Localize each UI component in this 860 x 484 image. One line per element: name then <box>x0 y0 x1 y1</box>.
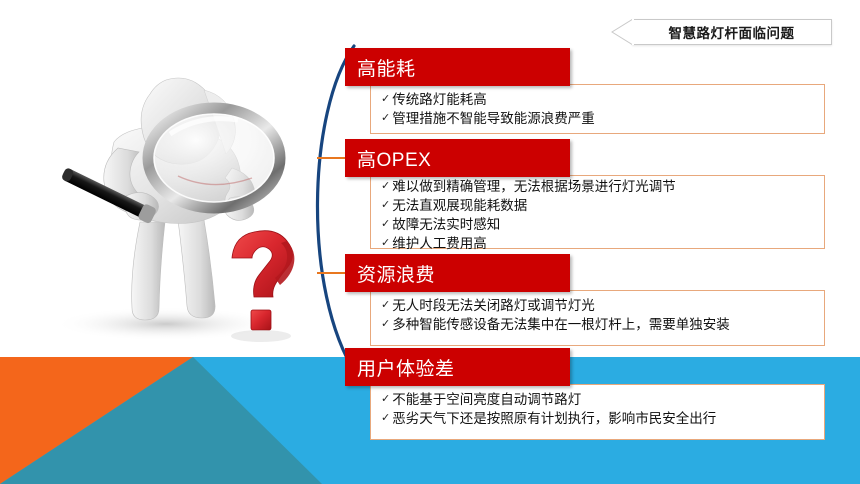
slide-title-pill: 智慧路灯杆面临问题 <box>632 19 832 45</box>
issue-section-3: 用户体验差 ✓ 不能基于空间亮度自动调节路灯 ✓ 恶劣天气下还是按照原有计划执行… <box>345 348 825 440</box>
bullet-text: 传统路灯能耗高 <box>392 90 487 109</box>
issue-header-2[interactable]: 资源浪费 <box>345 254 570 292</box>
issue-bullet-list-2: ✓ 无人时段无法关闭路灯或调节灯光 ✓ 多种智能传感设备无法集中在一根灯杆上，需… <box>381 296 730 334</box>
connector-line-1 <box>317 157 345 159</box>
issue-header-3[interactable]: 用户体验差 <box>345 348 570 386</box>
list-item: ✓ 无法直观展现能耗数据 <box>381 196 676 215</box>
chevron-left-icon <box>610 19 634 45</box>
bullet-text: 恶劣天气下还是按照原有计划执行，影响市民安全出行 <box>392 409 716 428</box>
list-item: ✓ 不能基于空间亮度自动调节路灯 <box>381 390 716 409</box>
issue-header-1[interactable]: 高OPEX <box>345 139 570 177</box>
bullet-text: 故障无法实时感知 <box>392 215 500 234</box>
issue-bullet-list-0: ✓ 传统路灯能耗高 ✓ 管理措施不智能导致能源浪费严重 <box>381 90 595 128</box>
check-icon: ✓ <box>381 390 390 409</box>
list-item: ✓ 故障无法实时感知 <box>381 215 676 234</box>
check-icon: ✓ <box>381 109 390 128</box>
issue-title-1: 高OPEX <box>357 145 431 172</box>
list-item: ✓ 传统路灯能耗高 <box>381 90 595 109</box>
list-item: ✓ 管理措施不智能导致能源浪费严重 <box>381 109 595 128</box>
check-icon: ✓ <box>381 177 390 196</box>
magnifier-glass-icon <box>148 108 280 208</box>
list-item: ✓ 维护人工费用高 <box>381 234 676 253</box>
bullet-text: 不能基于空间亮度自动调节路灯 <box>392 390 581 409</box>
bullet-text: 难以做到精确管理，无法根据场景进行灯光调节 <box>392 177 676 196</box>
list-item: ✓ 无人时段无法关闭路灯或调节灯光 <box>381 296 730 315</box>
figure-leg-front <box>178 220 215 318</box>
issue-title-2: 资源浪费 <box>357 260 435 287</box>
issue-section-2: 资源浪费 ✓ 无人时段无法关闭路灯或调节灯光 ✓ 多种智能传感设备无法集中在一根… <box>345 254 825 346</box>
bullet-text: 多种智能传感设备无法集中在一根灯杆上，需要单独安装 <box>392 315 730 334</box>
list-item: ✓ 多种智能传感设备无法集中在一根灯杆上，需要单独安装 <box>381 315 730 334</box>
check-icon: ✓ <box>381 215 390 234</box>
issue-section-0: 高能耗 ✓ 传统路灯能耗高 ✓ 管理措施不智能导致能源浪费严重 <box>345 48 825 134</box>
bullet-text: 维护人工费用高 <box>392 234 487 253</box>
check-icon: ✓ <box>381 90 390 109</box>
mascot-svg <box>18 72 318 357</box>
issue-header-0[interactable]: 高能耗 <box>345 48 570 86</box>
figure-leg-back <box>132 222 165 320</box>
slide-canvas: 智慧路灯杆面临问题 高能耗 ✓ 传统路灯能耗高 ✓ 管理措施不智能导致能源浪费严… <box>0 0 860 484</box>
illustration-figure-with-magnifier <box>18 72 318 357</box>
bullet-text: 管理措施不智能导致能源浪费严重 <box>392 109 595 128</box>
check-icon: ✓ <box>381 315 390 334</box>
check-icon: ✓ <box>381 409 390 428</box>
issue-title-3: 用户体验差 <box>357 354 455 381</box>
check-icon: ✓ <box>381 234 390 253</box>
page-title: 智慧路灯杆面临问题 <box>669 22 795 42</box>
issue-bullet-list-1: ✓ 难以做到精确管理，无法根据场景进行灯光调节 ✓ 无法直观展现能耗数据 ✓ 故… <box>381 177 676 253</box>
bullet-text: 无法直观展现能耗数据 <box>392 196 527 215</box>
bullet-text: 无人时段无法关闭路灯或调节灯光 <box>392 296 595 315</box>
list-item: ✓ 恶劣天气下还是按照原有计划执行，影响市民安全出行 <box>381 409 716 428</box>
connector-line-2 <box>317 272 345 274</box>
list-item: ✓ 难以做到精确管理，无法根据场景进行灯光调节 <box>381 177 676 196</box>
issue-bullet-list-3: ✓ 不能基于空间亮度自动调节路灯 ✓ 恶劣天气下还是按照原有计划执行，影响市民安… <box>381 390 716 428</box>
check-icon: ✓ <box>381 196 390 215</box>
check-icon: ✓ <box>381 296 390 315</box>
issue-section-1: 高OPEX ✓ 难以做到精确管理，无法根据场景进行灯光调节 ✓ 无法直观展现能耗… <box>345 139 825 249</box>
issue-title-0: 高能耗 <box>357 54 416 81</box>
